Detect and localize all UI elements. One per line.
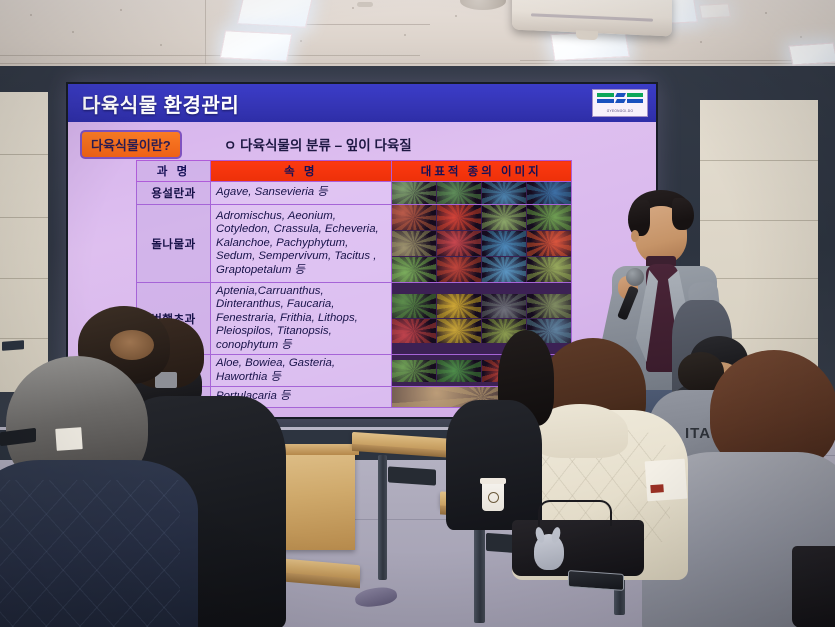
ceiling-speaker-dome	[460, 0, 506, 10]
succulent-thumbnail	[527, 231, 571, 256]
handbag	[512, 520, 644, 576]
cell-images	[391, 182, 572, 205]
cell-genus: Aptenia,Carruanthus, Dinteranthus, Fauca…	[211, 283, 392, 355]
table-row: 돌나물과Adromischus, Aeonium, Cotyledon, Cra…	[137, 205, 572, 283]
handout-paper	[55, 427, 82, 451]
succulent-thumbnail	[482, 294, 526, 318]
desk-leg	[378, 455, 387, 580]
backpack-right	[792, 546, 835, 627]
succulent-thumbnail	[527, 257, 571, 282]
status-badge: 다육식물이란?	[80, 130, 182, 159]
succulent-thumbnail	[482, 231, 526, 256]
slide-subtitle: ㅇ 다육식물의 분류 – 잎이 다육질	[224, 134, 412, 154]
hoodie-graphic-text: ITA	[685, 425, 711, 442]
succulent-thumbnail	[437, 205, 481, 230]
page-title: 다육식물 환경관리	[82, 89, 239, 118]
ceiling-light	[237, 0, 314, 28]
cell-family: 용설란과	[137, 182, 211, 205]
col-header-genus: 속 명	[211, 161, 392, 182]
handout-paper	[645, 459, 688, 502]
succulent-thumbnail	[392, 257, 436, 282]
ceiling-light	[220, 30, 293, 62]
cell-images	[391, 205, 572, 283]
succulent-thumbnail	[482, 182, 526, 204]
succulent-thumbnail	[392, 294, 436, 318]
cell-genus: Adromischus, Aeonium, Cotyledon, Crassul…	[211, 205, 392, 283]
col-header-images: 대표적 종의 이미지	[391, 161, 572, 182]
desk-leg	[474, 518, 485, 623]
projector: EPSON	[512, 0, 672, 36]
cell-genus: Agave, Sansevieria 등	[211, 182, 392, 205]
table-row: 용설란과Agave, Sansevieria 등	[137, 182, 572, 205]
succulent-thumbnail	[392, 360, 436, 382]
ceiling-light	[699, 3, 731, 19]
succulent-thumbnail	[392, 231, 436, 256]
cell-family: 돌나물과	[137, 205, 211, 283]
succulent-thumbnail	[437, 360, 481, 382]
lecture-room-photo: EPSON 다육식물 환경관리	[0, 0, 835, 627]
projector-brand-label: EPSON	[512, 0, 672, 2]
logo-caption: GYEONGGI-DO	[597, 110, 643, 113]
succulent-thumbnail	[437, 257, 481, 282]
handbag-handle	[538, 500, 612, 526]
gyeonggi-do-logo: GYEONGGI-DO	[592, 89, 648, 117]
succulent-thumbnail	[437, 294, 481, 318]
microphone-head	[626, 268, 644, 286]
succulent-thumbnail	[527, 294, 571, 318]
table-header-row: 과 명 속 명 대표적 종의 이미지	[137, 161, 572, 182]
smoke-detector	[357, 2, 373, 7]
projector-lens	[576, 30, 598, 40]
col-header-family: 과 명	[137, 161, 211, 182]
succulent-thumbnail	[482, 257, 526, 282]
slide-title-bar: 다육식물 환경관리 GYEONGGI-DO	[68, 84, 656, 122]
succulent-thumbnail	[527, 205, 571, 230]
succulent-thumbnail	[482, 205, 526, 230]
ceiling-light	[788, 42, 835, 65]
succulent-thumbnail	[437, 319, 481, 343]
wall-socket	[2, 340, 24, 351]
succulent-thumbnail	[437, 182, 481, 204]
ceiling: EPSON	[0, 0, 835, 70]
front-left-quilting	[0, 480, 180, 627]
cell-genus: Aloe, Bowiea, Gasteria, Haworthia 등	[211, 355, 392, 387]
succulent-thumbnail	[392, 182, 436, 204]
succulent-thumbnail	[392, 319, 436, 343]
succulent-thumbnail	[392, 205, 436, 230]
coffee-cup	[482, 481, 504, 511]
succulent-thumbnail	[527, 182, 571, 204]
attendee-middle-scalp	[110, 330, 154, 360]
succulent-thumbnail	[437, 231, 481, 256]
